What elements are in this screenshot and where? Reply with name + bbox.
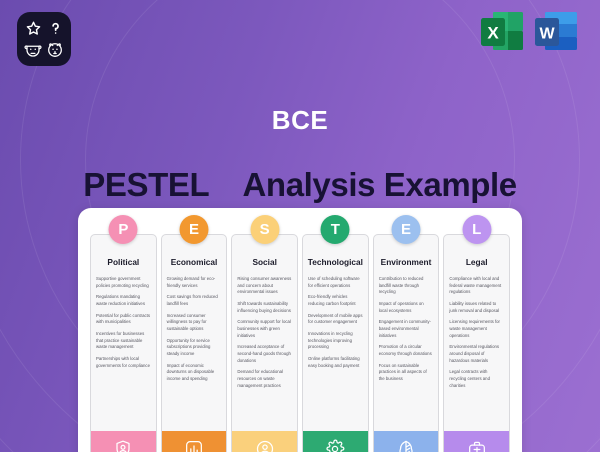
- cow-icon: [23, 40, 43, 60]
- brand-logo[interactable]: [17, 12, 71, 66]
- pestel-column-technological[interactable]: TTechnologicalUse of scheduling software…: [302, 234, 369, 452]
- column-title: Environment: [381, 257, 432, 267]
- word-icon-label: W: [539, 26, 555, 43]
- column-item: Engagement in community-based environmen…: [379, 319, 434, 339]
- column-item: Promotion of a circular economy through …: [379, 344, 434, 357]
- column-letter-badge: T: [321, 215, 350, 244]
- column-item: Increased consumer willingness to pay fo…: [167, 313, 222, 333]
- column-item: Supportive government policies promoting…: [96, 276, 151, 289]
- column-item: Focus on sustainable practices in all as…: [379, 363, 434, 383]
- column-letter-badge: P: [109, 215, 138, 244]
- pestel-infographic: X W BCE PESTEL Analysis Example PPolitic…: [0, 0, 600, 452]
- column-title: Economical: [171, 257, 218, 267]
- page-title-rest: Analysis Example: [243, 166, 517, 203]
- column-title: Technological: [308, 257, 363, 267]
- column-item: Incentives for businesses that practice …: [96, 331, 151, 351]
- column-title: Legal: [466, 257, 488, 267]
- column-item: Licensing requirements for waste managem…: [449, 319, 504, 339]
- column-item: Impact of operations on local ecosystems: [379, 301, 434, 314]
- briefcase-scales-icon: [444, 431, 509, 452]
- column-item: Community support for local businesses w…: [237, 319, 292, 339]
- excel-icon-label: X: [487, 24, 499, 43]
- column-item: Regulations mandating waste reduction in…: [96, 294, 151, 307]
- column-item: Partnerships with local governments for …: [96, 356, 151, 369]
- column-item: Innovations in recycling technologies im…: [308, 331, 363, 351]
- column-title: Political: [107, 257, 139, 267]
- pestel-column-economical[interactable]: EEconomicalGrowing demand for eco-friend…: [161, 234, 228, 452]
- brand-name: BCE: [0, 105, 600, 136]
- excel-icon[interactable]: X: [479, 10, 525, 56]
- column-letter-badge: S: [250, 215, 279, 244]
- column-item: Legal contracts with recycling centers a…: [449, 369, 504, 389]
- column-item: Opportunity for service subscriptions pr…: [167, 338, 222, 358]
- pestel-column-political[interactable]: PPoliticalSupportive government policies…: [90, 234, 157, 452]
- column-item: Rising consumer awareness and concern ab…: [237, 276, 292, 296]
- page-title-bold: PESTEL: [83, 166, 208, 203]
- bar-chart-icon: [162, 431, 227, 452]
- column-item: Demand for educational resources on wast…: [237, 369, 292, 389]
- column-item: Use of scheduling software for efficient…: [308, 276, 363, 289]
- column-item: Increased acceptance of second-hand good…: [237, 344, 292, 364]
- column-item: Contribution to reduced landfill waste t…: [379, 276, 434, 296]
- column-title: Social: [252, 257, 276, 267]
- column-letter-badge: E: [180, 215, 209, 244]
- star-icon: [23, 18, 43, 38]
- word-icon[interactable]: W: [533, 10, 579, 56]
- column-letter-badge: L: [462, 215, 491, 244]
- column-items: Compliance with local and federal waste …: [444, 276, 509, 431]
- gear-icon: [303, 431, 368, 452]
- column-items: Supportive government policies promoting…: [91, 276, 156, 431]
- pestel-column-social[interactable]: SSocialRising consumer awareness and con…: [231, 234, 298, 452]
- column-item: Environmental regulations around disposa…: [449, 344, 504, 364]
- column-item: Compliance with local and federal waste …: [449, 276, 504, 296]
- column-item: Eco-friendly vehicles reducing carbon fo…: [308, 294, 363, 307]
- column-items: Growing demand for eco-friendly services…: [162, 276, 227, 431]
- column-item: Liability issues related to junk removal…: [449, 301, 504, 314]
- column-item: Potential for public contracts with muni…: [96, 313, 151, 326]
- column-item: Growing demand for eco-friendly services: [167, 276, 222, 289]
- pestel-column-environment[interactable]: EEnvironmentContribution to reduced land…: [373, 234, 440, 452]
- column-item: Cost savings from reduced landfill fees: [167, 294, 222, 307]
- pestel-columns: PPoliticalSupportive government policies…: [90, 234, 510, 452]
- column-items: Rising consumer awareness and concern ab…: [232, 276, 297, 431]
- pestel-card: PPoliticalSupportive government policies…: [78, 208, 522, 452]
- column-items: Contribution to reduced landfill waste t…: [374, 276, 439, 431]
- column-item: Impact of economic downturns on disposab…: [167, 363, 222, 383]
- pestel-column-legal[interactable]: LLegalCompliance with local and federal …: [443, 234, 510, 452]
- column-items: Use of scheduling software for efficient…: [303, 276, 368, 431]
- dog-icon: [45, 40, 65, 60]
- column-letter-badge: E: [392, 215, 421, 244]
- user-circle-icon: [232, 431, 297, 452]
- question-mark-icon: [45, 18, 65, 38]
- shield-person-icon: [91, 431, 156, 452]
- column-item: Shift towards sustainability influencing…: [237, 301, 292, 314]
- column-item: Development of mobile apps for customer …: [308, 313, 363, 326]
- page-title: PESTEL Analysis Example: [0, 166, 600, 204]
- column-item: Online platforms facilitating easy booki…: [308, 356, 363, 369]
- leaf-icon: [374, 431, 439, 452]
